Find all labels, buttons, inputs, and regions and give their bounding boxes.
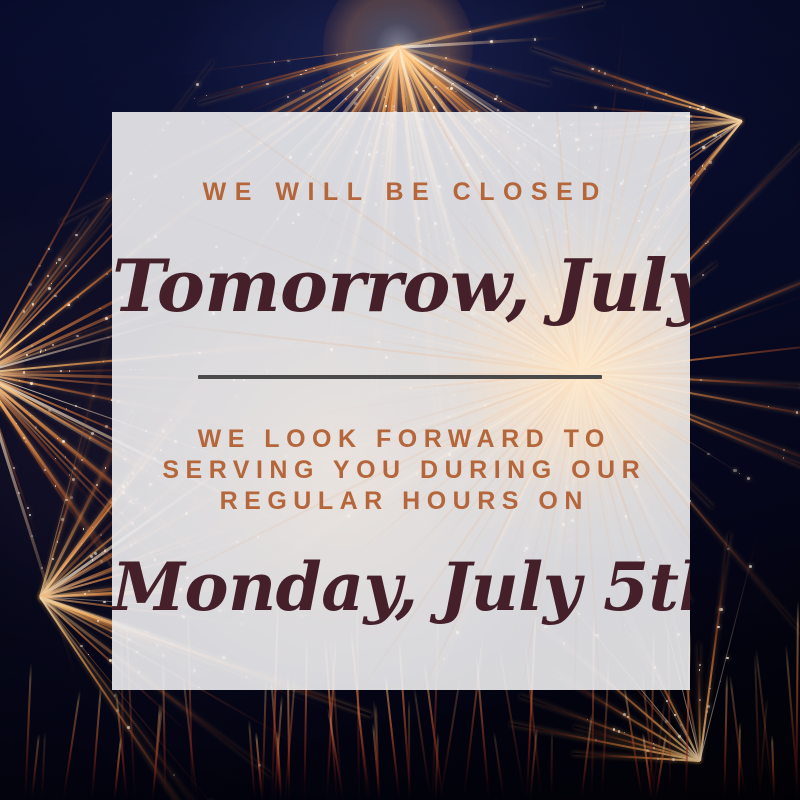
body-message: WE LOOK FORWARD TOSERVING YOU DURING OUR… (112, 424, 690, 517)
closure-eyebrow: WE WILL BE CLOSED (112, 180, 690, 205)
divider-rule (198, 375, 602, 379)
body-message-line: REGULAR HOURS ON (112, 486, 690, 517)
falling-spark-trail (550, 732, 553, 800)
card-content: WE WILL BE CLOSED Tomorrow, July 4th WE … (112, 112, 690, 690)
body-message-line: SERVING YOU DURING OUR (112, 455, 690, 486)
holiday-closure-poster: WE WILL BE CLOSED Tomorrow, July 4th WE … (0, 0, 800, 800)
closed-date-heading: Tomorrow, July 4th (112, 250, 690, 322)
body-message-line: WE LOOK FORWARD TO (112, 424, 690, 455)
announcement-card: WE WILL BE CLOSED Tomorrow, July 4th WE … (112, 112, 690, 690)
reopen-date-heading: Monday, July 5th (112, 554, 690, 620)
